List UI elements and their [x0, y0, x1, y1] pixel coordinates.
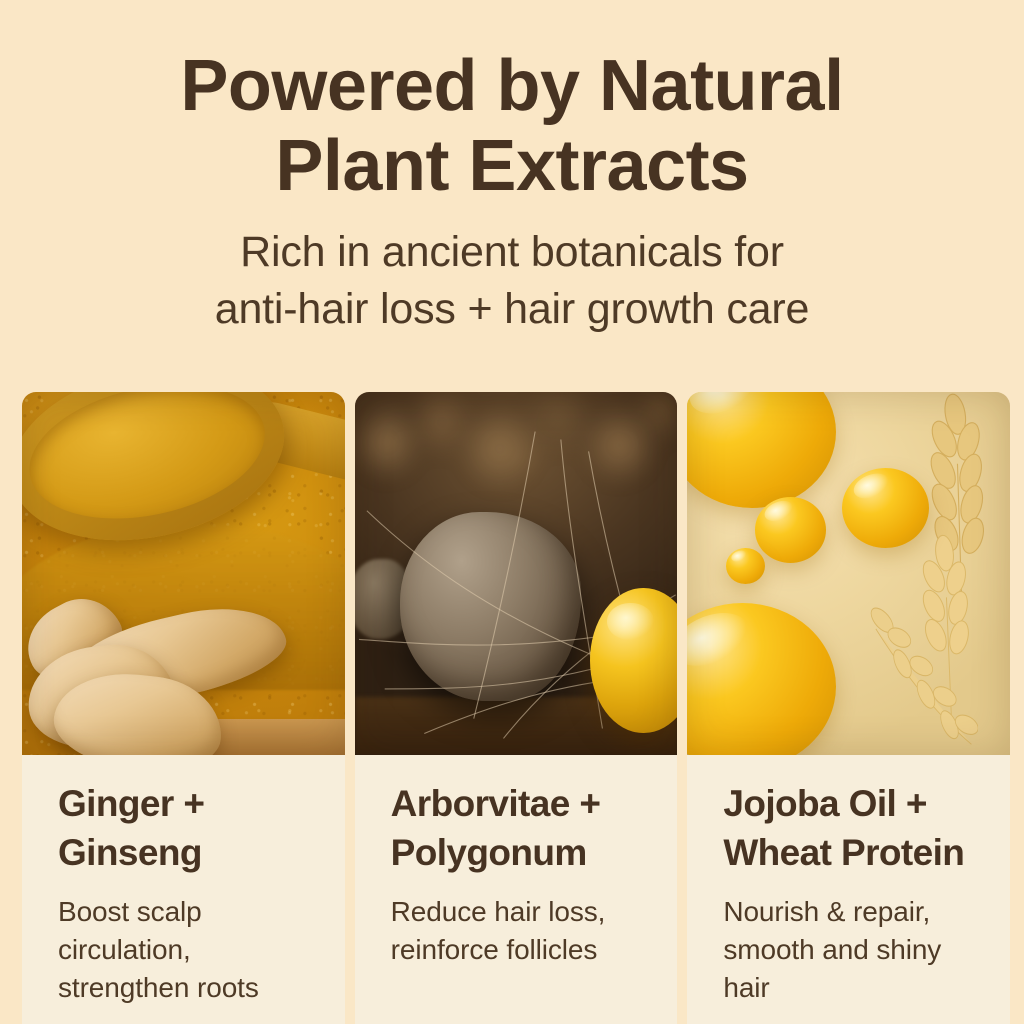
- page-subtitle-line-1: Rich in ancient botanicals for: [0, 224, 1024, 281]
- ingredient-card-arborvitae-polygonum: Arborvitae + Polygonum Reduce hair loss,…: [355, 392, 678, 1024]
- page-title-line-1: Powered by Natural: [0, 46, 1024, 126]
- card-title: Ginger + Ginseng: [58, 779, 321, 877]
- oil-bubble: [755, 497, 826, 562]
- ginger-turmeric-image: [22, 392, 345, 755]
- oil-bubble: [687, 603, 835, 755]
- product-benefits-poster: Powered by Natural Plant Extracts Rich i…: [0, 0, 1024, 1024]
- page-subtitle-line-2: anti-hair loss + hair growth care: [0, 281, 1024, 338]
- oil-bubble: [842, 468, 929, 548]
- oil-bubble: [687, 392, 835, 508]
- card-text-panel: Ginger + Ginseng Boost scalp circulation…: [22, 755, 345, 1024]
- oil-bubble: [726, 548, 765, 584]
- card-description: Nourish & repair, smooth and shiny hair: [723, 877, 986, 1007]
- arborvitae-polygonum-image: [355, 392, 678, 755]
- ingredient-card-row: Ginger + Ginseng Boost scalp circulation…: [22, 392, 1010, 1024]
- card-text-panel: Arborvitae + Polygonum Reduce hair loss,…: [355, 755, 678, 1024]
- ingredient-card-jojoba-wheat: Jojoba Oil + Wheat Protein Nourish & rep…: [687, 392, 1010, 1024]
- card-text-panel: Jojoba Oil + Wheat Protein Nourish & rep…: [687, 755, 1010, 1024]
- ingredient-card-ginger-ginseng: Ginger + Ginseng Boost scalp circulation…: [22, 392, 345, 1024]
- jojoba-oil-wheat-image: [687, 392, 1010, 755]
- page-title-line-2: Plant Extracts: [0, 126, 1024, 206]
- page-subtitle: Rich in ancient botanicals for anti-hair…: [0, 206, 1024, 338]
- wheat-stalk-icon: [868, 581, 978, 755]
- card-title: Arborvitae + Polygonum: [391, 779, 654, 877]
- page-title: Powered by Natural Plant Extracts: [0, 0, 1024, 206]
- header-block: Powered by Natural Plant Extracts Rich i…: [0, 0, 1024, 338]
- card-description: Boost scalp circulation, strengthen root…: [58, 877, 321, 1007]
- card-description: Reduce hair loss, reinforce follicles: [391, 877, 654, 969]
- card-title: Jojoba Oil + Wheat Protein: [723, 779, 986, 877]
